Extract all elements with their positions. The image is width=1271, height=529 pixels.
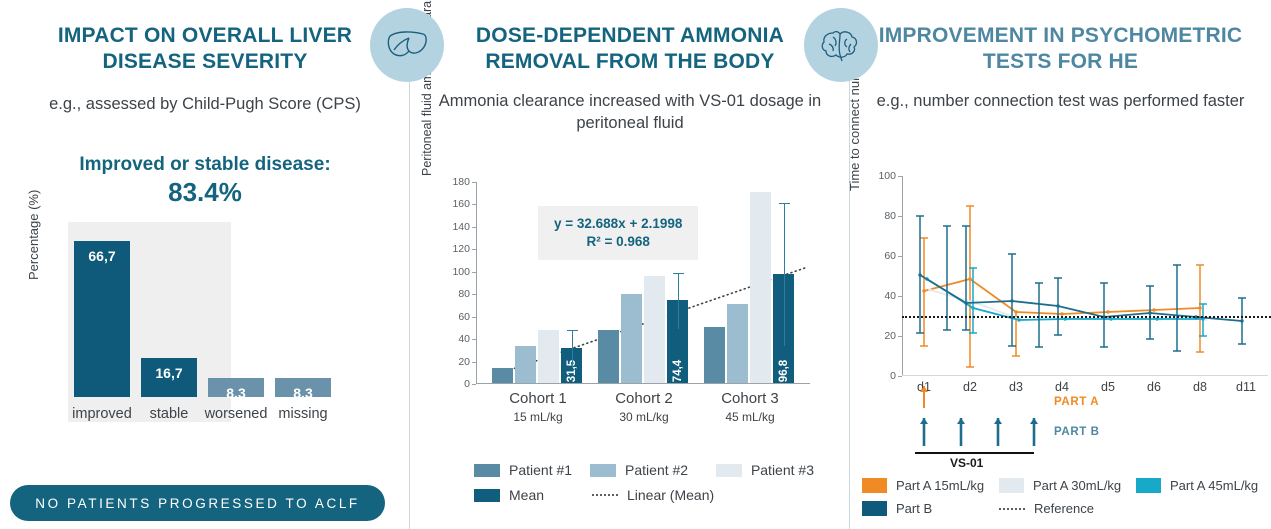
legend-swatch bbox=[474, 489, 500, 502]
legend-row: MeanLinear (Mean) bbox=[474, 487, 814, 503]
legend-row: Part A 15mL/kgPart A 30mL/kgPart A 45mL/… bbox=[862, 478, 1267, 493]
part-b-annotation-label: PART B bbox=[1054, 426, 1100, 438]
legend-swatch bbox=[716, 464, 742, 477]
legend-item-patient-3[interactable]: Patient #3 bbox=[716, 462, 814, 478]
equation-line: y = 32.688x + 2.1998 bbox=[554, 215, 682, 233]
bar-group: 8,3 bbox=[208, 197, 264, 397]
bar-patient-3 bbox=[644, 276, 665, 383]
kpi-value: 83.4% bbox=[0, 177, 410, 208]
plot-area-left: 66,7improved16,7stable8,3worsened8,3miss… bbox=[68, 222, 370, 422]
y-tick-mark bbox=[898, 256, 902, 257]
legend-item-mean[interactable]: Mean bbox=[474, 487, 592, 503]
bar-value-label: 74,4 bbox=[672, 360, 684, 382]
y-tick-label: 140 bbox=[452, 221, 470, 233]
bar-value-label: 8,3 bbox=[293, 385, 312, 401]
y-tick-mark bbox=[472, 339, 476, 340]
y-tick-mark bbox=[898, 336, 902, 337]
legend-label: Linear (Mean) bbox=[627, 487, 714, 503]
brain-icon bbox=[820, 27, 862, 63]
plot-area-right: reference 020406080100d1d2d3d4d5d6d8d11 bbox=[902, 176, 1202, 376]
y-tick-label: 100 bbox=[878, 170, 896, 182]
y-tick-mark bbox=[472, 182, 476, 183]
cohort-dose-label: 15 mL/kg bbox=[483, 410, 593, 424]
legend-item-part-a-45ml-kg[interactable]: Part A 45mL/kg bbox=[1136, 478, 1258, 493]
cohort-dose-label: 30 mL/kg bbox=[589, 410, 699, 424]
y-tick-mark bbox=[472, 384, 476, 385]
legend-swatch bbox=[590, 464, 616, 477]
infographic-board: IMPACT ON OVERALL LIVER DISEASE SEVERITY… bbox=[0, 0, 1271, 529]
bar-improved: 66,7 bbox=[74, 241, 130, 397]
y-tick-label: 180 bbox=[452, 176, 470, 188]
chart-ammonia-clearance: Peritoneal fluid ammonia clearance (mL/m… bbox=[428, 152, 828, 437]
y-tick-label: 80 bbox=[884, 210, 896, 222]
y-tick-mark bbox=[472, 204, 476, 205]
y-axis-line-middle bbox=[476, 182, 477, 384]
y-tick-label: 0 bbox=[464, 378, 470, 390]
bar-category-label-improved: improved bbox=[66, 406, 138, 422]
subtitle-left: e.g., assessed by Child-Pugh Score (CPS) bbox=[0, 93, 410, 115]
liver-icon bbox=[385, 28, 429, 62]
y-tick-mark bbox=[472, 249, 476, 250]
panel-liver-severity: IMPACT ON OVERALL LIVER DISEASE SEVERITY… bbox=[0, 0, 410, 529]
kpi-block: Improved or stable disease: 83.4% bbox=[0, 152, 410, 208]
y-tick-label: 40 bbox=[884, 290, 896, 302]
kpi-label: Improved or stable disease: bbox=[0, 152, 410, 177]
legend-dotted-line bbox=[592, 494, 618, 496]
reference-line bbox=[902, 316, 1271, 318]
error-bar-cap-top bbox=[673, 273, 684, 274]
cohort-label: Cohort 3 bbox=[695, 390, 805, 407]
legend-item-reference[interactable]: Reference bbox=[999, 501, 1094, 516]
legend-label: Part A 30mL/kg bbox=[1033, 478, 1121, 493]
legend-row: Part BReference bbox=[862, 501, 1267, 516]
legend-item-patient-1[interactable]: Patient #1 bbox=[474, 462, 590, 478]
legend-label: Part A 15mL/kg bbox=[896, 478, 984, 493]
chart-cps-outcomes: Percentage (%) 66,7improved16,7stable8,3… bbox=[30, 222, 380, 447]
page-title-right: IMPROVEMENT IN PSYCHOMETRIC TESTS FOR HE bbox=[850, 23, 1271, 75]
plot-area-middle: y = 32.688x + 2.1998 R² = 0.968 02040608… bbox=[476, 182, 810, 384]
cohort-dose-label: 45 mL/kg bbox=[695, 410, 805, 424]
vs01-bracket-label: VS-01 bbox=[950, 456, 983, 470]
y-tick-label: 80 bbox=[458, 288, 470, 300]
bar-value-label: 16,7 bbox=[155, 365, 182, 381]
legend-middle: Patient #1Patient #2Patient #3MeanLinear… bbox=[474, 462, 814, 512]
y-tick-mark bbox=[472, 362, 476, 363]
bar-patient-3 bbox=[750, 192, 771, 383]
chart-number-connection-test: Time to connect numbers (sec) reference … bbox=[858, 168, 1268, 398]
y-tick-label: 60 bbox=[458, 311, 470, 323]
bar-worsened: 8,3 bbox=[208, 378, 264, 397]
axis-label-y-left: Percentage (%) bbox=[26, 160, 41, 280]
y-tick-label: 160 bbox=[452, 198, 470, 210]
error-bar-cap-top bbox=[779, 203, 790, 204]
regression-equation-box: y = 32.688x + 2.1998 R² = 0.968 bbox=[538, 206, 698, 260]
y-tick-mark bbox=[898, 296, 902, 297]
legend-label: Patient #1 bbox=[509, 462, 572, 478]
cohort-label: Cohort 1 bbox=[483, 390, 593, 407]
y-tick-label: 60 bbox=[884, 250, 896, 262]
r-squared-line: R² = 0.968 bbox=[554, 233, 682, 251]
legend-item-part-a-30ml-kg[interactable]: Part A 30mL/kg bbox=[999, 478, 1136, 493]
legend-swatch bbox=[999, 478, 1024, 493]
bar-patient-1 bbox=[492, 368, 513, 383]
legend-label: Part A 45mL/kg bbox=[1170, 478, 1258, 493]
legend-row: Patient #1Patient #2Patient #3 bbox=[474, 462, 814, 478]
subtitle-middle: Ammonia clearance increased with VS-01 d… bbox=[410, 90, 850, 134]
bar-patient-2 bbox=[621, 294, 642, 383]
error-bar bbox=[572, 330, 573, 368]
legend-label: Patient #3 bbox=[751, 462, 814, 478]
aclf-callout-badge: NO PATIENTS PROGRESSED TO ACLF bbox=[10, 485, 385, 521]
vs01-bracket bbox=[915, 452, 1034, 454]
legend-dotted-line bbox=[999, 508, 1025, 510]
subtitle-right: e.g., number connection test was perform… bbox=[850, 90, 1271, 112]
bar-category-label-stable: stable bbox=[133, 406, 205, 422]
bar-patient-3 bbox=[538, 330, 559, 383]
legend-right: Part A 15mL/kgPart A 30mL/kgPart A 45mL/… bbox=[862, 478, 1267, 524]
y-tick-mark bbox=[898, 216, 902, 217]
bar-value-label: 8,3 bbox=[226, 385, 245, 401]
y-tick-label: 100 bbox=[452, 266, 470, 278]
y-tick-mark bbox=[898, 176, 902, 177]
legend-swatch bbox=[474, 464, 500, 477]
y-tick-mark bbox=[898, 376, 902, 377]
legend-label: Reference bbox=[1034, 501, 1094, 516]
error-bar-cap-top bbox=[567, 330, 578, 331]
legend-swatch bbox=[862, 501, 887, 516]
bar-category-label-worsened: worsened bbox=[200, 406, 272, 422]
legend-item-patient-2[interactable]: Patient #2 bbox=[590, 462, 716, 478]
bar-patient-2 bbox=[727, 304, 748, 383]
bar-patient-2 bbox=[515, 346, 536, 383]
bar-patient-1 bbox=[598, 330, 619, 383]
error-bar bbox=[678, 273, 679, 329]
y-tick-label: 20 bbox=[884, 330, 896, 342]
bar-value-label: 96,8 bbox=[778, 360, 790, 382]
page-title-middle: DOSE-DEPENDENT AMMONIA REMOVAL FROM THE … bbox=[410, 23, 850, 75]
legend-item-linear-mean-[interactable]: Linear (Mean) bbox=[592, 487, 714, 503]
y-tick-label: 40 bbox=[458, 333, 470, 345]
series-lines-right bbox=[902, 176, 1271, 376]
legend-swatch bbox=[862, 478, 887, 493]
bar-value-label: 66,7 bbox=[88, 248, 115, 264]
y-tick-mark bbox=[472, 317, 476, 318]
liver-icon-badge bbox=[370, 8, 444, 82]
legend-label: Patient #2 bbox=[625, 462, 688, 478]
brain-icon-badge bbox=[804, 8, 878, 82]
bar-stable: 16,7 bbox=[141, 358, 197, 397]
bar-group: 16,7 bbox=[141, 197, 197, 397]
legend-swatch bbox=[1136, 478, 1161, 493]
legend-label: Part B bbox=[896, 501, 932, 516]
y-tick-mark bbox=[472, 227, 476, 228]
x-axis-line-right bbox=[902, 375, 1268, 376]
y-tick-label: 120 bbox=[452, 243, 470, 255]
bar-missing: 8,3 bbox=[275, 378, 331, 397]
y-tick-label: 20 bbox=[458, 356, 470, 368]
y-tick-mark bbox=[472, 294, 476, 295]
legend-item-part-b[interactable]: Part B bbox=[862, 501, 999, 516]
bar-patient-1 bbox=[704, 327, 725, 383]
bar-category-label-missing: missing bbox=[267, 406, 339, 422]
legend-item-part-a-15ml-kg[interactable]: Part A 15mL/kg bbox=[862, 478, 999, 493]
bar-group: 8,3 bbox=[275, 197, 331, 397]
legend-label: Mean bbox=[509, 487, 544, 503]
cohort-label: Cohort 2 bbox=[589, 390, 699, 407]
page-title-left: IMPACT ON OVERALL LIVER DISEASE SEVERITY bbox=[0, 23, 410, 75]
part-a-annotation-label: PART A bbox=[1054, 396, 1099, 408]
y-tick-mark bbox=[472, 272, 476, 273]
y-axis-line-right bbox=[902, 176, 903, 376]
error-bar bbox=[784, 203, 785, 346]
bar-group: 66,7 bbox=[74, 197, 130, 397]
x-axis-line-middle bbox=[476, 383, 810, 384]
